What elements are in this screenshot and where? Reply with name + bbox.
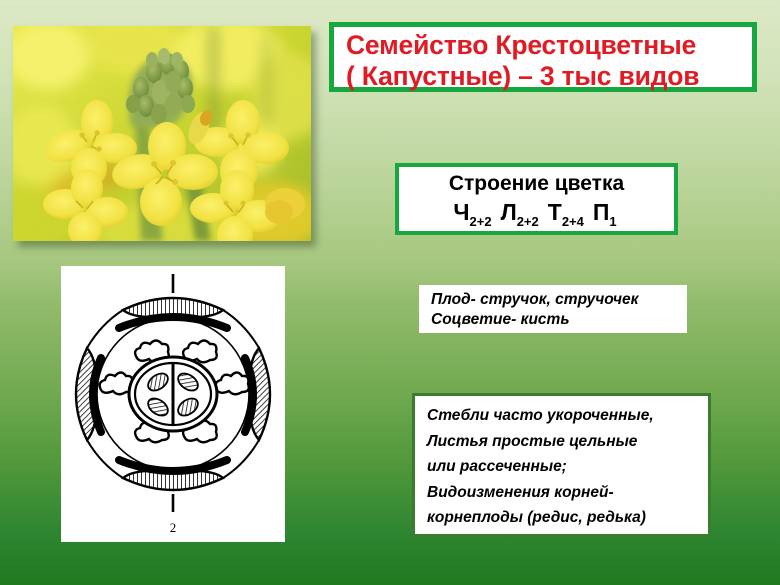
fruit-info-box: Плод- стручок, стручочек Соцветие- кисть bbox=[419, 285, 687, 333]
formula-stamens-symbol: Т bbox=[542, 199, 562, 225]
diagram-ovary bbox=[129, 357, 217, 431]
fruit-line-2: Соцветие- кисть bbox=[431, 310, 687, 330]
flower-formula: Ч2+2Л2+2Т2+4П1 bbox=[399, 197, 674, 237]
formula-stamens-value: 2+4 bbox=[562, 214, 587, 229]
formula-pistil-symbol: П bbox=[587, 199, 610, 225]
description-line-2: Листья простые цельные bbox=[427, 429, 708, 455]
rapeseed-flower-photo bbox=[13, 26, 311, 241]
title-line-1: Семейство Крестоцветные bbox=[346, 30, 752, 61]
description-line-5: корнеплоды (редис, редька) bbox=[427, 505, 708, 531]
title-box: Семейство Крестоцветные ( Капустные) – 3… bbox=[329, 22, 757, 92]
floral-diagram-panel: 2 bbox=[61, 266, 285, 542]
flower-formula-box: Строение цветка Ч2+2Л2+2Т2+4П1 bbox=[395, 163, 678, 235]
fruit-line-1: Плод- стручок, стручочек bbox=[431, 290, 687, 310]
diagram-label: 2 bbox=[170, 520, 177, 535]
floral-diagram: 2 bbox=[61, 266, 285, 542]
photo-artwork bbox=[13, 26, 311, 241]
formula-headline: Строение цветка bbox=[399, 171, 674, 197]
formula-corolla-symbol: Л bbox=[495, 199, 517, 225]
title-line-2: ( Капустные) – 3 тыс видов bbox=[346, 61, 752, 92]
description-line-1: Стебли часто укороченные, bbox=[427, 403, 708, 429]
slide-canvas: 2 Семейство Крестоцветные ( Капустные) –… bbox=[0, 0, 780, 585]
formula-calyx-value: 2+2 bbox=[470, 214, 495, 229]
formula-corolla-value: 2+2 bbox=[517, 214, 542, 229]
description-line-4: Видоизменения корней- bbox=[427, 480, 708, 506]
formula-calyx-symbol: Ч bbox=[453, 199, 469, 225]
description-line-3: или рассеченные; bbox=[427, 454, 708, 480]
description-box: Стебли часто укороченные, Листья простые… bbox=[412, 393, 711, 537]
formula-pistil-value: 1 bbox=[609, 214, 619, 229]
